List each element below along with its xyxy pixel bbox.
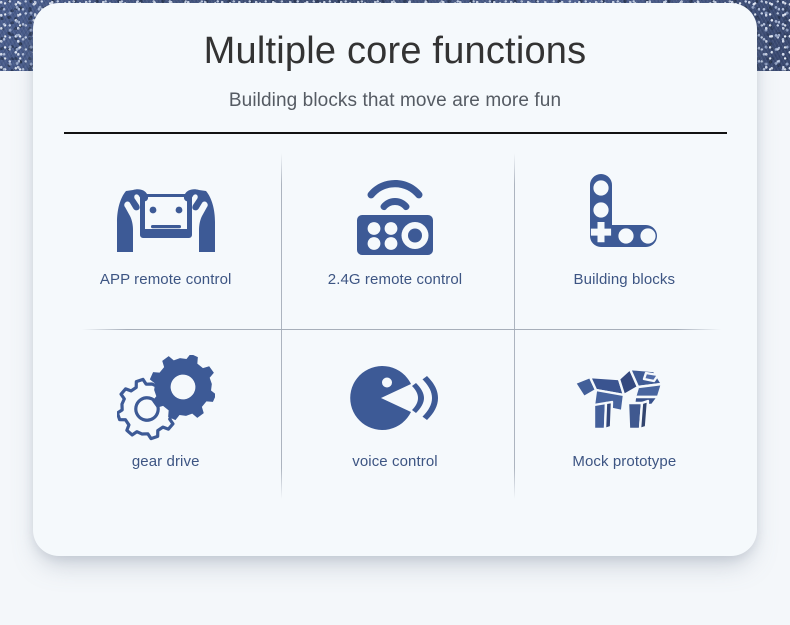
page-title: Multiple core functions: [33, 28, 757, 76]
feature-grid: APP remote control: [33, 147, 757, 511]
feature-item-building-blocks[interactable]: Building blocks: [510, 147, 739, 329]
feature-item-mock-prototype[interactable]: Mock prototype: [510, 329, 739, 511]
feature-label: gear drive: [132, 453, 200, 470]
low-poly-dog-icon: [572, 353, 676, 443]
feature-label: voice control: [352, 453, 438, 470]
rc-transmitter-wifi-icon: [349, 171, 441, 261]
feature-card: Multiple core functions Building blocks …: [33, 3, 757, 556]
hands-holding-gamepad-icon: [113, 171, 219, 261]
feature-item-voice-control[interactable]: voice control: [280, 329, 509, 511]
header-divider-rule: [64, 132, 727, 134]
feature-label: 2.4G remote control: [328, 271, 462, 288]
page-subtitle: Building blocks that move are more fun: [33, 90, 757, 112]
l-shaped-technic-beam-icon: [580, 171, 668, 261]
feature-item-app-remote-control[interactable]: APP remote control: [51, 147, 280, 329]
card-header: Multiple core functions Building blocks …: [33, 3, 757, 134]
feature-label: APP remote control: [100, 271, 232, 288]
feature-item-2-4g-remote-control[interactable]: 2.4G remote control: [280, 147, 509, 329]
two-gears-icon: [117, 353, 215, 443]
feature-label: Building blocks: [574, 271, 676, 288]
feature-label: Mock prototype: [572, 453, 676, 470]
feature-item-gear-drive[interactable]: gear drive: [51, 329, 280, 511]
speaking-head-soundwaves-icon: [345, 353, 445, 443]
